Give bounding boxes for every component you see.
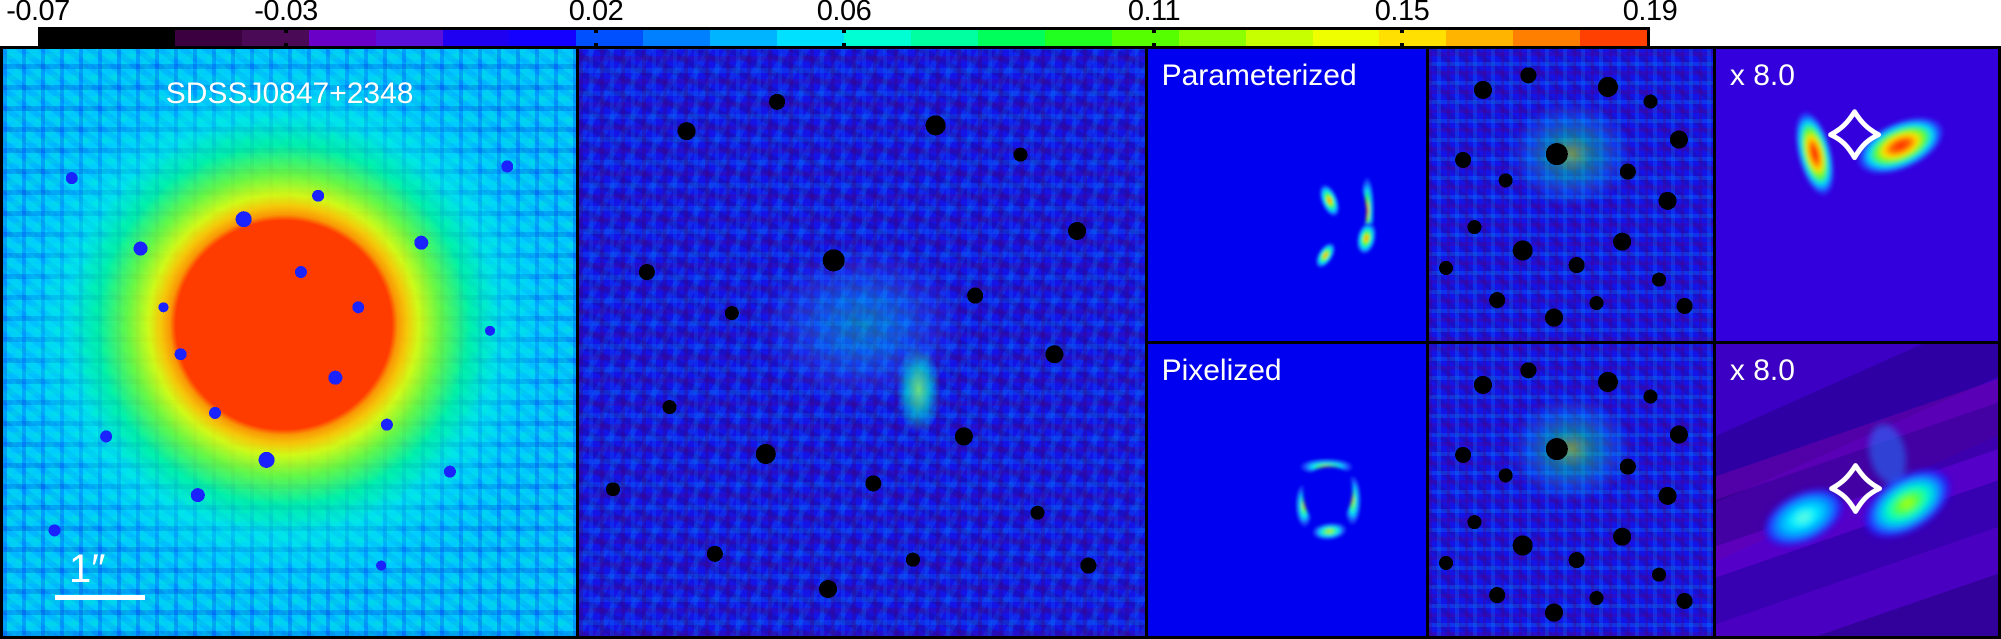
colorbar-tick-label: 0.15 xyxy=(1375,0,1429,26)
subpanel-parameterized-model: Parameterized xyxy=(1148,49,1426,341)
parameterized-model-label: Parameterized xyxy=(1162,61,1357,91)
colorbar-block: -0.07-0.030.020.060.110.150.19 xyxy=(0,0,2001,50)
colorbar-swatch xyxy=(1379,30,1446,46)
scale-bar-line xyxy=(55,595,145,600)
colorbar-tick-labels: -0.07-0.030.020.060.110.150.19 xyxy=(0,0,2001,28)
colorbar-tick-label: -0.07 xyxy=(6,0,70,26)
pixelized-source-zoom-label: x 8.0 xyxy=(1730,356,1795,386)
lens-model-figure: -0.07-0.030.020.060.110.150.19 SDSSJ0847… xyxy=(0,0,2001,639)
parameterized-arc-layer xyxy=(1148,49,1426,341)
colorbar-swatch xyxy=(576,30,643,46)
colorbar-swatch xyxy=(108,30,175,46)
colorbar-swatch xyxy=(309,30,376,46)
colorbar-swatch xyxy=(844,30,911,46)
colorbar-swatch xyxy=(777,30,844,46)
panel-lens-subtracted-residual xyxy=(576,49,1144,636)
colorbar-swatch xyxy=(978,30,1045,46)
panel-strip: SDSSJ0847+2348 1″ xyxy=(0,46,2001,639)
masked-pixels-layer-bottom xyxy=(1429,344,1713,636)
subpanel-pixelized-residual xyxy=(1429,341,1713,636)
pixelized-model-label: Pixelized xyxy=(1162,356,1282,386)
colorbar-swatch xyxy=(1179,30,1246,46)
parameterized-source-zoom-label: x 8.0 xyxy=(1730,61,1795,91)
colorbar-tick-label: 0.02 xyxy=(569,0,623,26)
masked-pixels-layer-top xyxy=(1429,49,1713,341)
scale-bar-label: 1″ xyxy=(69,549,145,589)
colorbar-tick-label: 0.06 xyxy=(817,0,871,26)
colorbar-swatch xyxy=(41,30,108,46)
panel-lensed-image-models: Parameterized xyxy=(1145,49,1426,636)
source-blobs-pixelized xyxy=(1716,344,1998,636)
colorbar-tick-label: 0.11 xyxy=(1128,0,1180,26)
subpanel-parameterized-source: x 8.0 xyxy=(1716,49,1998,341)
pixelized-arc-layer xyxy=(1148,344,1426,636)
colorbar-swatch xyxy=(175,30,242,46)
colorbar-swatch xyxy=(1045,30,1112,46)
panel-observed-image: SDSSJ0847+2348 1″ xyxy=(3,49,576,636)
colorbar-swatch xyxy=(1446,30,1513,46)
panel-reconstructed-source: x 8.0 xyxy=(1713,49,1998,636)
subpanel-parameterized-residual xyxy=(1429,49,1713,341)
colorbar-swatch xyxy=(443,30,510,46)
colorbar-swatch xyxy=(509,30,576,46)
colorbar-swatch xyxy=(710,30,777,46)
source-blobs-parameterized xyxy=(1716,49,1998,341)
object-name-label: SDSSJ0847+2348 xyxy=(166,79,414,109)
colorbar-swatch xyxy=(1513,30,1580,46)
colorbar-swatch xyxy=(1580,30,1647,46)
einstein-ring-arcs-pixelized xyxy=(1148,344,1426,636)
colorbar-tick-label: 0.19 xyxy=(1623,0,1677,26)
subpanel-pixelized-source: x 8.0 xyxy=(1716,341,1998,636)
colorbar-tick-label: -0.03 xyxy=(254,0,318,26)
colorbar-swatch xyxy=(376,30,443,46)
colorbar-swatch xyxy=(1246,30,1313,46)
colorbar-swatch xyxy=(911,30,978,46)
colorbar-swatch xyxy=(242,30,309,46)
subpanel-pixelized-model: Pixelized xyxy=(1148,341,1426,636)
masked-pixels-layer xyxy=(579,49,1144,636)
colorbar-swatch xyxy=(1313,30,1380,46)
colorbar-swatch xyxy=(643,30,710,46)
einstein-ring-arcs-parameterized xyxy=(1148,49,1426,341)
panel-model-residuals xyxy=(1426,49,1713,636)
colorbar-gradient xyxy=(41,30,1647,46)
colorbar-swatch xyxy=(1112,30,1179,46)
scale-bar: 1″ xyxy=(55,549,145,600)
